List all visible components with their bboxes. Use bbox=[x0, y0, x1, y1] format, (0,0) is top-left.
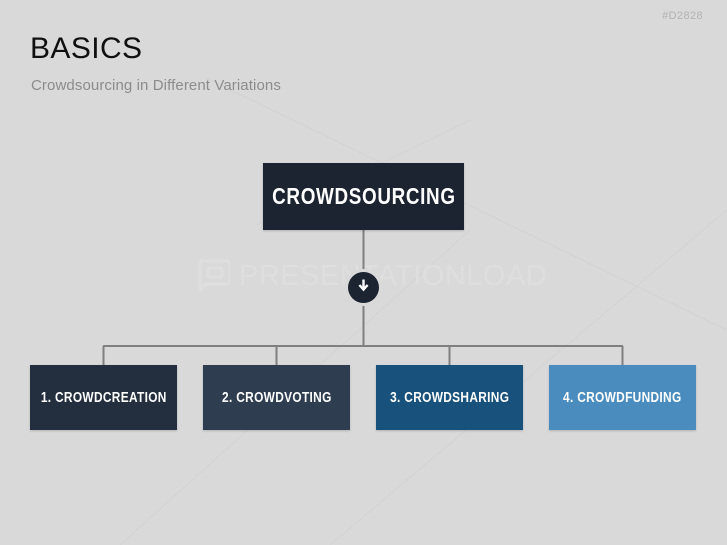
node-label: 1. CROWDCREATION bbox=[41, 390, 167, 406]
page-title: BASICS bbox=[30, 32, 142, 65]
node-label: CROWDSOURCING bbox=[272, 183, 456, 210]
arrow-down-icon bbox=[355, 277, 372, 299]
slide-canvas: PRESENTATIONLOAD #D2828 BASICS Crowdsour… bbox=[0, 0, 727, 545]
arrow-down-badge[interactable] bbox=[348, 272, 379, 303]
page-subtitle: Crowdsourcing in Different Variations bbox=[31, 77, 281, 94]
node-crowdsourcing[interactable]: CROWDSOURCING bbox=[263, 163, 464, 230]
node-label: 2. CROWDVOTING bbox=[222, 390, 332, 406]
node-crowdcreation[interactable]: 1. CROWDCREATION bbox=[30, 365, 177, 430]
node-crowdfunding[interactable]: 4. CROWDFUNDING bbox=[549, 365, 696, 430]
node-label: 3. CROWDSHARING bbox=[390, 390, 509, 406]
node-crowdsharing[interactable]: 3. CROWDSHARING bbox=[376, 365, 523, 430]
node-label: 4. CROWDFUNDING bbox=[563, 390, 682, 406]
speech-bubble-icon bbox=[198, 259, 230, 293]
document-code: #D2828 bbox=[662, 10, 703, 22]
node-crowdvoting[interactable]: 2. CROWDVOTING bbox=[203, 365, 350, 430]
watermark-text: PRESENTATIONLOAD bbox=[239, 262, 547, 291]
